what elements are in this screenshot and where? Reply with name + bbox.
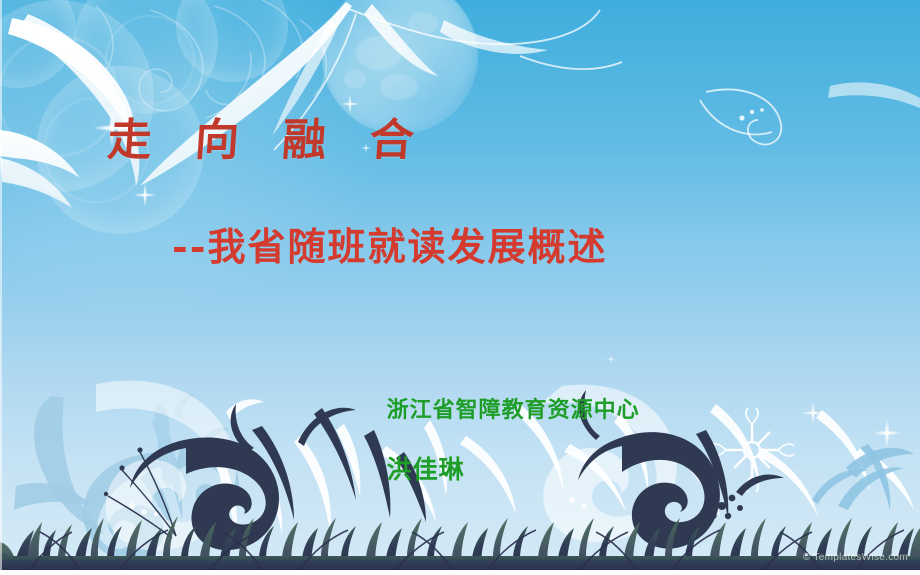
sparkle-star (700, 434, 716, 450)
sparkle-star (796, 396, 830, 430)
templateswise-watermark: © TemplatesWise.com (803, 552, 908, 563)
organization-name: 浙江省智障教育资源中心 (387, 397, 640, 423)
sparkle-star (866, 412, 908, 454)
grass-silhouette-band (0, 508, 920, 570)
slide-left-edge (0, 0, 2, 575)
author-line: 浙江省智障教育资源中心 洪佳琳 (356, 366, 640, 512)
slide-bottom-edge (0, 570, 920, 575)
slide-subtitle: --我省随班就读发展概述 (172, 216, 608, 271)
presentation-slide: 走 向 融 合 --我省随班就读发展概述 浙江省智障教育资源中心 洪佳琳 © T… (0, 0, 920, 575)
slide-title: 走 向 融 合 (106, 104, 430, 168)
sparkle-star (604, 352, 618, 366)
presenter-name: 洪佳琳 (387, 455, 465, 484)
sparkle-star (128, 178, 162, 212)
